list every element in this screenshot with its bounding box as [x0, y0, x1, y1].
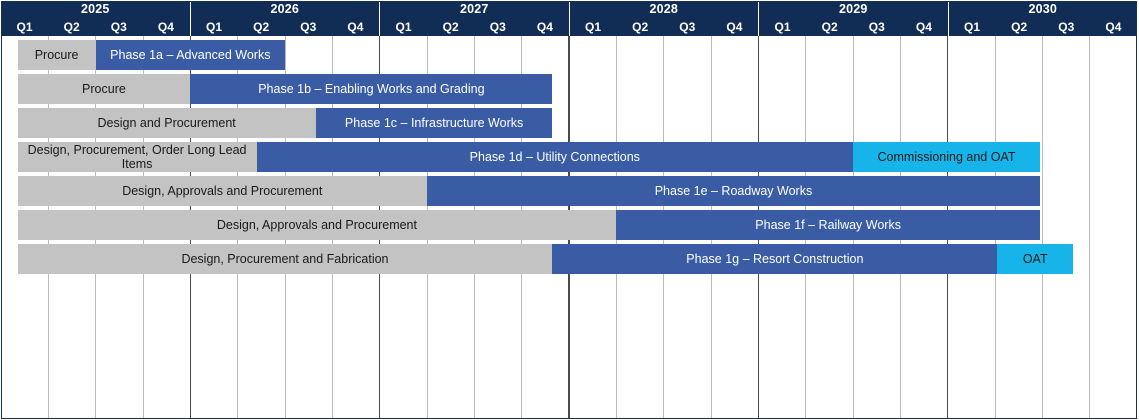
year-label-2025: 2025 [1, 1, 190, 18]
quarter-label-2027-Q4: Q4 [521, 18, 568, 36]
gantt-row: Design, Approvals and ProcurementPhase 1… [1, 210, 1137, 240]
gantt-bar-segment[interactable]: Design and Procurement [18, 108, 316, 138]
gantt-bar-segment[interactable]: Phase 1e – Roadway Works [427, 176, 1040, 206]
gantt-bar-label: Design, Procurement, Order Long Lead Ite… [20, 143, 255, 171]
gantt-bar-label: Phase 1e – Roadway Works [429, 184, 1038, 198]
quarter-label-2025-Q4: Q4 [142, 18, 189, 36]
year-label-2029: 2029 [758, 1, 948, 18]
gantt-bar-label: Design and Procurement [20, 116, 314, 130]
gantt-bar-segment[interactable]: Phase 1a – Advanced Works [96, 40, 285, 70]
gantt-row: Design, Procurement, Order Long Lead Ite… [1, 142, 1137, 172]
gantt-bar-segment[interactable]: Commissioning and OAT [853, 142, 1040, 172]
gantt-bar-segment[interactable]: Phase 1d – Utility Connections [257, 142, 853, 172]
quarter-header-row: Q1Q2Q3Q4Q1Q2Q3Q4Q1Q2Q3Q4Q1Q2Q3Q4Q1Q2Q3Q4… [1, 18, 1137, 36]
quarter-label-2025-Q3: Q3 [95, 18, 142, 36]
quarter-label-2030-Q2: Q2 [996, 18, 1043, 36]
gantt-bar-segment[interactable]: Phase 1b – Enabling Works and Grading [190, 74, 552, 104]
gantt-bar-segment[interactable]: Phase 1f – Railway Works [616, 210, 1040, 240]
gantt-bar-label: Design, Procurement and Fabrication [20, 252, 551, 266]
gantt-plot-area: ProcurePhase 1a – Advanced WorksProcureP… [1, 36, 1137, 418]
timeline-header: 202520262027202820292030 Q1Q2Q3Q4Q1Q2Q3Q… [1, 1, 1137, 36]
gantt-bar-label: Procure [20, 82, 189, 96]
gantt-bar-label: Design, Approvals and Procurement [20, 184, 425, 198]
quarter-label-2029-Q3: Q3 [853, 18, 900, 36]
gantt-bar-segment[interactable]: Design, Procurement and Fabrication [18, 244, 553, 274]
year-label-2030: 2030 [948, 1, 1138, 18]
year-label-2027: 2027 [379, 1, 569, 18]
quarter-label-2028-Q2: Q2 [617, 18, 664, 36]
gantt-row: Design, Approvals and ProcurementPhase 1… [1, 176, 1137, 206]
quarter-label-2026-Q2: Q2 [238, 18, 285, 36]
gantt-row: Design and ProcurementPhase 1c – Infrast… [1, 108, 1137, 138]
quarter-label-2028-Q4: Q4 [711, 18, 758, 36]
gantt-bar-label: Phase 1a – Advanced Works [98, 48, 283, 62]
gantt-bar-label: OAT [999, 252, 1071, 266]
gantt-bar-label: Procure [20, 48, 94, 62]
gantt-bar-segment[interactable]: Design, Approvals and Procurement [18, 210, 617, 240]
quarter-label-2027-Q1: Q1 [379, 18, 427, 36]
quarter-label-2029-Q4: Q4 [900, 18, 947, 36]
gantt-bar-label: Commissioning and OAT [855, 150, 1038, 164]
gantt-bar-segment[interactable]: Design, Procurement, Order Long Lead Ite… [18, 142, 257, 172]
gantt-bar-label: Phase 1c – Infrastructure Works [318, 116, 551, 130]
gantt-row: ProcurePhase 1a – Advanced Works [1, 40, 1137, 70]
year-header-row: 202520262027202820292030 [1, 1, 1137, 18]
quarter-label-2030-Q3: Q3 [1043, 18, 1090, 36]
quarter-label-2028-Q3: Q3 [664, 18, 711, 36]
quarter-label-2027-Q3: Q3 [474, 18, 521, 36]
quarter-label-2029-Q2: Q2 [806, 18, 853, 36]
gantt-bar-label: Phase 1g – Resort Construction [554, 252, 995, 266]
quarter-label-2030-Q4: Q4 [1090, 18, 1137, 36]
gantt-bar-segment[interactable]: Procure [18, 40, 96, 70]
gantt-bar-label: Phase 1f – Railway Works [618, 218, 1038, 232]
quarter-label-2026-Q4: Q4 [332, 18, 379, 36]
gantt-bar-segment[interactable]: Design, Approvals and Procurement [18, 176, 427, 206]
gantt-row: Design, Procurement and FabricationPhase… [1, 244, 1137, 274]
quarter-label-2027-Q2: Q2 [427, 18, 474, 36]
quarter-label-2030-Q1: Q1 [948, 18, 996, 36]
gantt-chart: 202520262027202820292030 Q1Q2Q3Q4Q1Q2Q3Q… [0, 0, 1139, 420]
gantt-bar-segment[interactable]: OAT [997, 244, 1073, 274]
quarter-label-2026-Q1: Q1 [190, 18, 238, 36]
gantt-bar-label: Phase 1d – Utility Connections [259, 150, 851, 164]
year-label-2026: 2026 [190, 1, 380, 18]
quarter-label-2029-Q1: Q1 [758, 18, 806, 36]
gantt-bar-label: Phase 1b – Enabling Works and Grading [192, 82, 550, 96]
gantt-bar-segment[interactable]: Phase 1c – Infrastructure Works [316, 108, 553, 138]
quarter-label-2025-Q1: Q1 [1, 18, 48, 36]
year-label-2028: 2028 [569, 1, 759, 18]
quarter-label-2028-Q1: Q1 [569, 18, 617, 36]
quarter-label-2026-Q3: Q3 [285, 18, 332, 36]
gantt-bar-label: Design, Approvals and Procurement [20, 218, 615, 232]
gantt-bar-segment[interactable]: Procure [18, 74, 191, 104]
gantt-bar-segment[interactable]: Phase 1g – Resort Construction [552, 244, 997, 274]
quarter-label-2025-Q2: Q2 [48, 18, 95, 36]
gantt-row: ProcurePhase 1b – Enabling Works and Gra… [1, 74, 1137, 104]
